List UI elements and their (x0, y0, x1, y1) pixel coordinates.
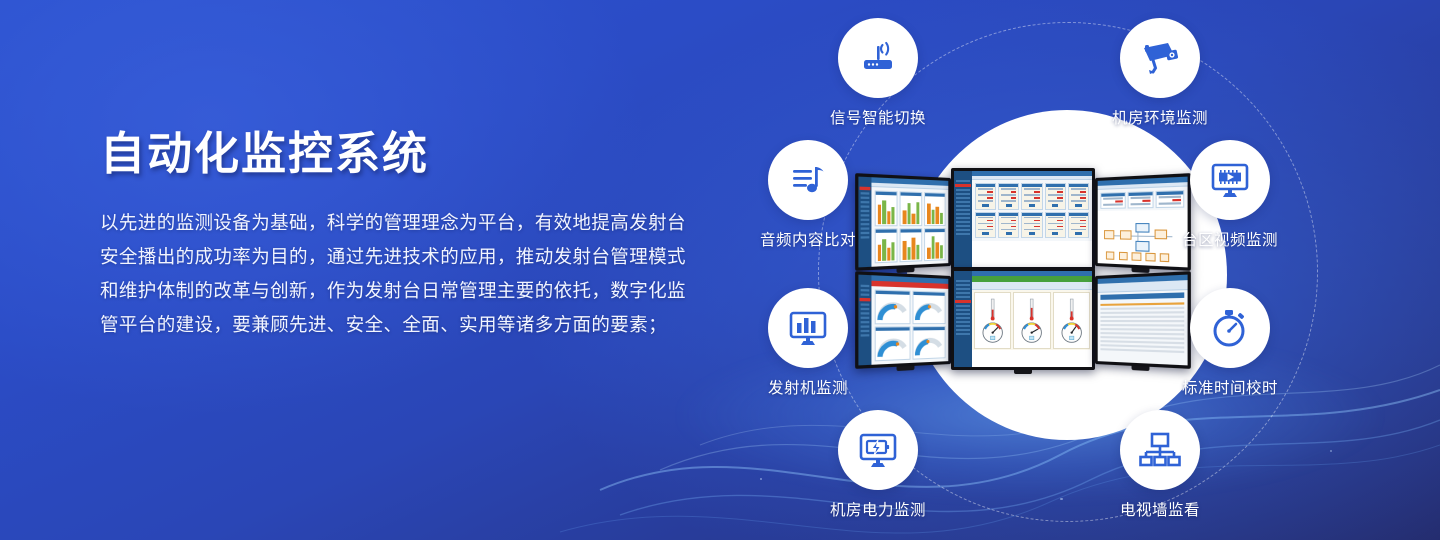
feature-node-audio-compare[interactable]: 音频内容比对 (728, 140, 888, 250)
bubble-room-power[interactable] (838, 410, 918, 490)
feature-node-room-environment[interactable]: 机房环境监测 (1080, 18, 1240, 128)
router-wifi-icon (856, 36, 900, 80)
feature-node-area-video[interactable]: 台区视频监测 (1150, 140, 1310, 250)
hero-description: 以先进的监测设备为基础，科学的管理理念为平台，有效地提高发射台安全播出的成功率为… (100, 206, 700, 342)
stopwatch-icon (1208, 305, 1252, 351)
data-panel-grid (972, 180, 1092, 241)
hero-banner: 自动化监控系统 以先进的监测设备为基础，科学的管理理念为平台，有效地提高发射台安… (0, 0, 1440, 540)
feature-label: 机房电力监测 (798, 498, 958, 520)
tv-wall-icon (1137, 429, 1183, 471)
feature-diagram: 信号智能切换 机房环境监测 (700, 0, 1440, 540)
page-title: 自动化监控系统 (100, 128, 700, 180)
bubble-audio-compare[interactable] (768, 140, 848, 220)
cctv-camera-icon (1137, 36, 1183, 80)
screen-sidebar (954, 171, 972, 267)
feature-label: 发射机监测 (728, 376, 888, 398)
screen-sidebar (954, 271, 972, 367)
feature-label: 机房环境监测 (1080, 106, 1240, 128)
bubble-time-sync[interactable] (1190, 288, 1270, 368)
bubble-signal-switch[interactable] (838, 18, 918, 98)
music-note-icon (786, 159, 830, 201)
monitor-video-icon (1207, 158, 1253, 202)
feature-node-tv-wall[interactable]: 电视墙监看 (1080, 410, 1240, 520)
feature-node-transmitter[interactable]: 发射机监测 (728, 288, 888, 398)
bubble-room-environment[interactable] (1120, 18, 1200, 98)
bubble-area-video[interactable] (1190, 140, 1270, 220)
feature-node-signal-switch[interactable]: 信号智能切换 (798, 18, 958, 128)
hero-text-block: 自动化监控系统 以先进的监测设备为基础，科学的管理理念为平台，有效地提高发射台安… (100, 128, 700, 342)
feature-label: 台区视频监测 (1150, 228, 1310, 250)
screen-bottom-center[interactable] (951, 268, 1095, 370)
monitor-bars-icon (785, 306, 831, 350)
video-wall (855, 168, 1185, 368)
feature-label: 音频内容比对 (728, 228, 888, 250)
feature-node-time-sync[interactable]: 标准时间校时 (1150, 288, 1310, 398)
bubble-tv-wall[interactable] (1120, 410, 1200, 490)
monitor-battery-icon (855, 428, 901, 472)
feature-label: 信号智能切换 (798, 106, 958, 128)
feature-label: 电视墙监看 (1080, 498, 1240, 520)
screen-top-center[interactable] (951, 168, 1095, 270)
feature-label: 标准时间校时 (1150, 376, 1310, 398)
bubble-transmitter[interactable] (768, 288, 848, 368)
feature-node-room-power[interactable]: 机房电力监测 (798, 410, 958, 520)
gauge-panel-row (972, 290, 1092, 350)
